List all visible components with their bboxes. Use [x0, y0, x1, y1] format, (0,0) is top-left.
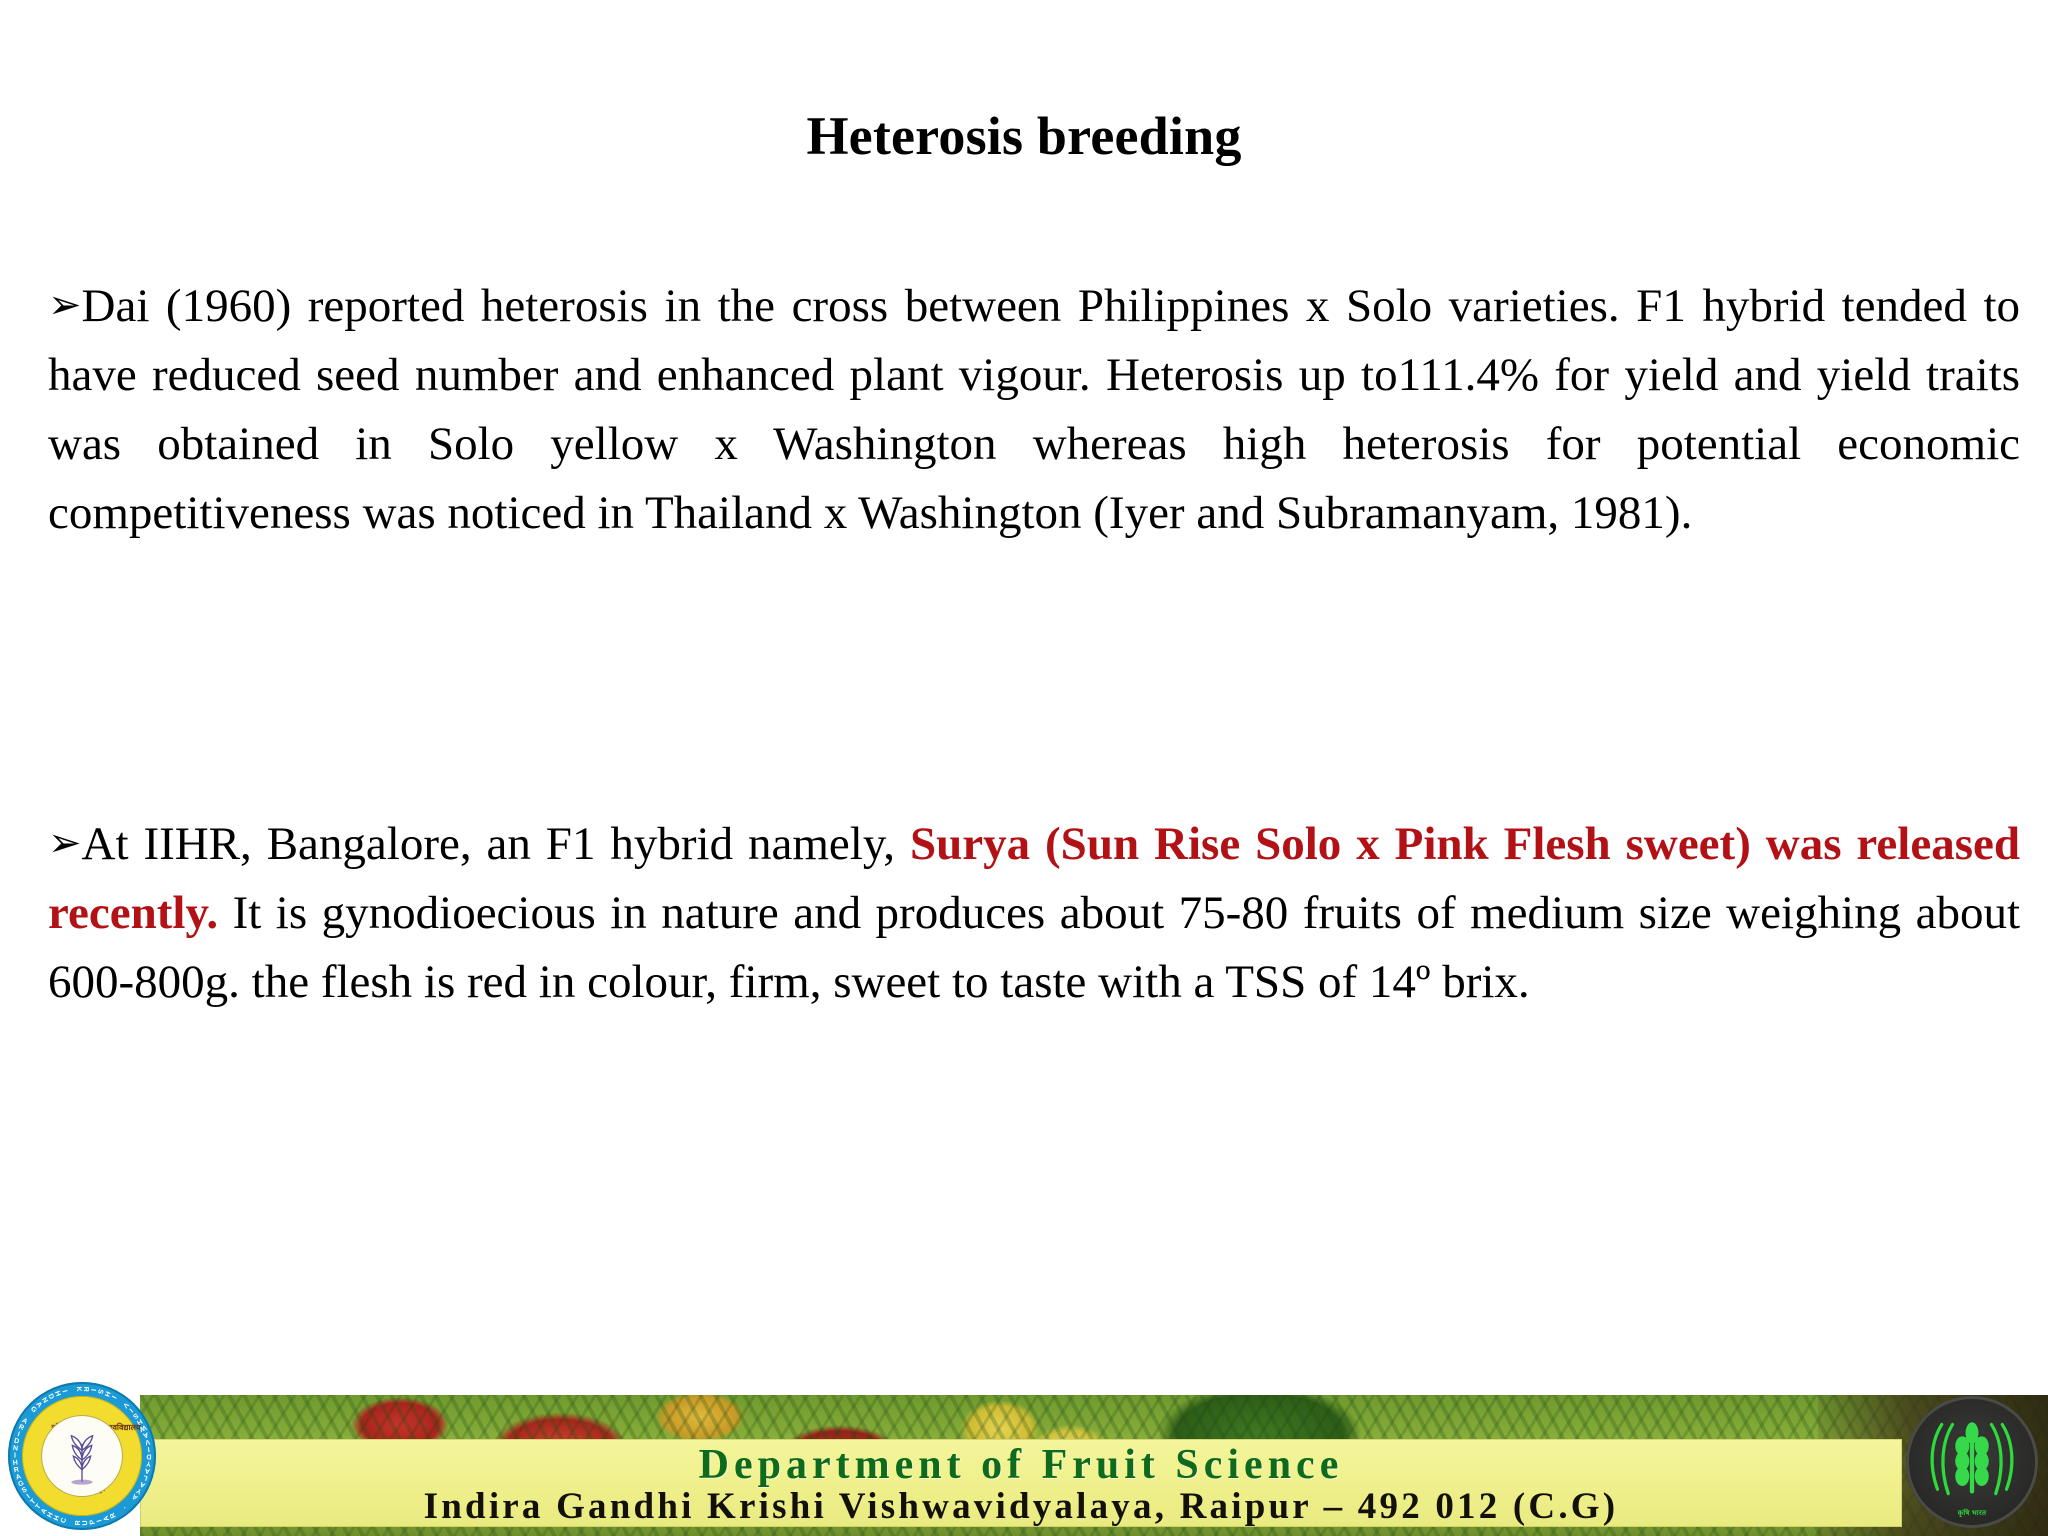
- run-description-text: It is gynodioecious in nature and produc…: [48, 887, 2020, 1008]
- department-label: Department of Fruit Science: [140, 1441, 1902, 1489]
- wheat-stalk-icon: [1918, 1405, 2026, 1513]
- seal-emblem-icon: [53, 1429, 111, 1487]
- seal-ring-char: N: [12, 1445, 18, 1453]
- seal-ring-char: D: [146, 1453, 151, 1460]
- seal-ring-char: U: [82, 1520, 89, 1525]
- footer-text-band: Department of Fruit Science Indira Gandh…: [140, 1439, 1902, 1527]
- paragraph-dai-1960-text: Dai (1960) reported heterosis in the cro…: [48, 280, 2020, 539]
- seal-ring-char: ·: [122, 1504, 129, 1510]
- seal-ring-char: C: [60, 1517, 68, 1524]
- seal-ring-char: I: [26, 1493, 32, 1500]
- university-address-label: Indira Gandhi Krishi Vishwavidyalaya, Ra…: [140, 1485, 1902, 1528]
- paragraph-dai-1960: ➢Dai (1960) reported heterosis in the cr…: [48, 272, 2020, 548]
- seal-ring-char: I: [147, 1445, 150, 1452]
- slide-body: ➢Dai (1960) reported heterosis in the cr…: [48, 272, 2020, 1017]
- agriculture-emblem-logo: कृषि भारत: [1906, 1396, 2038, 1528]
- bullet-arrow-icon: ➢: [48, 282, 82, 328]
- university-seal-logo: INDIRA GANDHI KRISHI VISHWAVIDYALAYA · R…: [8, 1382, 156, 1530]
- seal-center-disc: [41, 1415, 123, 1497]
- seal-ring-char: D: [13, 1438, 19, 1446]
- run-intro-text: At IIHR, Bangalore, an F1 hybrid namely,: [82, 818, 910, 870]
- page-title: Heterosis breeding: [0, 108, 2048, 165]
- seal-ring-char: R: [82, 1386, 89, 1391]
- paragraph-iihr-surya: ➢At IIHR, Bangalore, an F1 hybrid namely…: [48, 810, 2020, 1017]
- slide-canvas: Heterosis breeding ➢Dai (1960) reported …: [0, 0, 2048, 1536]
- seal-ring-char: I: [110, 1394, 117, 1399]
- seal-ring-char: H: [12, 1459, 18, 1467]
- seal-ring-char: I: [16, 1431, 20, 1438]
- seal-ring-char: R: [75, 1520, 82, 1525]
- logo-caption-label: कृषि भारत: [1906, 1509, 2038, 1518]
- bullet-arrow-icon: ➢: [48, 820, 82, 866]
- seal-ring-char: A: [103, 1515, 111, 1522]
- seal-ring-char: I: [96, 1519, 103, 1523]
- seal-ring-char: R: [13, 1466, 19, 1474]
- footer-banner: Department of Fruit Science Indira Gandh…: [0, 1381, 2048, 1536]
- seal-ring-char: P: [89, 1519, 97, 1525]
- seal-ring-char: K: [75, 1386, 82, 1391]
- seal-ring-char: I: [14, 1453, 16, 1460]
- seal-ring-char: I: [60, 1390, 67, 1394]
